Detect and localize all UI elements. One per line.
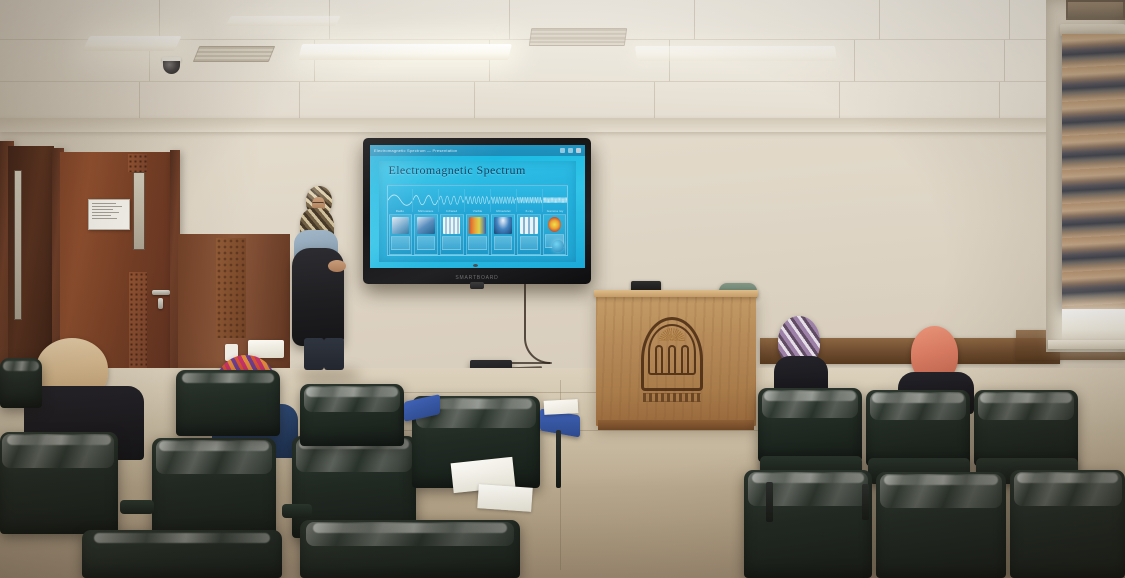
wave-microwave-icon — [413, 192, 438, 208]
wave-infrared-icon — [439, 192, 464, 208]
seat-leg-right-2 — [862, 484, 869, 520]
panel-caption-3 — [468, 236, 487, 250]
arabic-calligraphy-mark — [643, 393, 701, 402]
ceiling-light-centre — [298, 44, 512, 60]
maximize-icon[interactable] — [568, 148, 573, 153]
wall-picture-frame — [1066, 0, 1125, 20]
wave-uv-icon — [491, 192, 516, 208]
interactive-flat-panel[interactable]: Electromagnetic Spectrum — Presentation … — [363, 138, 591, 284]
seat-left-r1-a[interactable] — [0, 432, 118, 534]
panel-caption-5 — [520, 236, 539, 250]
arch-emblem-icon — [641, 317, 703, 391]
seat-armrest-right — [282, 504, 312, 518]
wave-cell-infrared: Infrared — [439, 189, 465, 212]
wave-cell-visible: Visible — [465, 189, 491, 212]
panel-caption-0 — [391, 236, 410, 250]
paper-on-tablet-2 — [477, 484, 533, 512]
display-wall-mount — [470, 282, 484, 289]
wave-strip: Radio Microwave Infrared — [388, 189, 568, 212]
seat-leg-right-1 — [766, 482, 773, 522]
seat-left-r1-b[interactable] — [152, 438, 276, 538]
wave-radio-icon — [388, 192, 413, 208]
slide-title: Electromagnetic Spectrum — [388, 163, 525, 178]
wave-gamma-icon — [543, 192, 568, 208]
lectern-base — [598, 420, 754, 430]
door-decorative-panel-bottom — [129, 272, 147, 380]
lectern-emblem — [641, 317, 703, 402]
display-brand-text: SMARTBOARD — [455, 275, 498, 281]
presenter-glasses — [312, 202, 324, 205]
panel-icon-xray — [520, 217, 537, 234]
panel-caption-4 — [494, 236, 513, 250]
spectrum-panel-xray — [517, 214, 541, 255]
spectrum-panel-visible — [466, 214, 490, 255]
spectrum-panel-infrared — [440, 214, 464, 255]
wave-label-2: Infrared — [439, 209, 464, 213]
seat-armrest-left — [120, 500, 154, 514]
wave-cell-microwave: Microwave — [413, 189, 439, 212]
wave-label-1: Microwave — [413, 209, 438, 213]
wave-cell-gamma: Gamma ray — [543, 189, 568, 212]
wave-visible-icon — [465, 192, 490, 208]
wave-label-3: Visible — [465, 209, 490, 213]
wave-cell-uv: Ultraviolet — [491, 189, 517, 212]
spectrum-panel-microwave — [414, 214, 438, 255]
wainscot-perforated-inset — [216, 238, 246, 338]
wave-label-6: Gamma ray — [543, 209, 568, 213]
wave-label-4: Ultraviolet — [491, 209, 516, 213]
presenter-leg-left — [304, 338, 324, 370]
spectrum-panel-radio — [389, 214, 413, 255]
tablet-support-arm — [556, 430, 561, 488]
panel-icon-visible — [469, 217, 486, 234]
seat-right-r2-a[interactable] — [744, 470, 872, 578]
lecture-room-photo: Electromagnetic Spectrum — Presentation … — [0, 0, 1125, 578]
door-vision-panel — [133, 172, 145, 250]
seat-right-r2-c[interactable] — [1010, 470, 1125, 578]
panel-icon-radio — [392, 217, 409, 234]
display-cable — [524, 284, 550, 364]
door-decorative-panel-top — [128, 154, 147, 172]
seat-front-row-right[interactable] — [300, 520, 520, 578]
panel-caption-2 — [442, 236, 461, 250]
display-screen[interactable]: Electromagnetic Spectrum — Presentation … — [370, 145, 585, 268]
door-lever-handle[interactable] — [152, 290, 170, 295]
wave-label-0: Radio — [388, 209, 413, 213]
door-lock-plate — [158, 298, 163, 309]
seat-right-r1-b[interactable] — [866, 390, 970, 466]
close-icon[interactable] — [576, 148, 581, 153]
seat-mid-r0-b[interactable] — [300, 384, 404, 446]
presenter-leg-right — [324, 338, 344, 370]
door-side-glass — [14, 170, 22, 320]
wave-cell-radio: Radio — [388, 189, 414, 212]
panel-icon-uv — [494, 217, 511, 234]
slide-app-bar: Electromagnetic Spectrum — Presentation — [370, 145, 585, 156]
panel-icon-microwave — [417, 217, 434, 234]
presenter-floor-shadow — [295, 368, 361, 382]
lectern-top-edge — [594, 290, 758, 297]
presenter-hands — [328, 260, 346, 272]
seat-left-r0-a[interactable] — [0, 358, 42, 408]
seat-right-r1-a[interactable] — [758, 388, 862, 462]
spectrum-diagram: Radio Microwave Infrared — [387, 185, 569, 256]
seat-mid-r0-a[interactable] — [176, 370, 280, 436]
air-diffuser-centre — [529, 28, 628, 46]
seat-right-r2-b[interactable] — [876, 472, 1006, 578]
panel-icon-gamma — [548, 217, 561, 233]
presentation-slide: Electromagnetic Spectrum Radio — [379, 161, 577, 262]
posted-notice-sheet — [88, 199, 130, 230]
panel-caption-1 — [417, 236, 436, 250]
window-light-gap — [1062, 309, 1125, 343]
seat-front-row-centre[interactable] — [82, 530, 282, 578]
ir-receiver — [473, 264, 478, 267]
minimize-icon[interactable] — [560, 148, 565, 153]
spectrum-panel-row — [388, 214, 568, 255]
seat-right-r1-c[interactable] — [974, 390, 1078, 466]
wave-xray-icon — [517, 192, 542, 208]
spectrum-panel-uv — [491, 214, 515, 255]
paper-on-desk-right — [544, 399, 579, 415]
wave-label-5: X-ray — [517, 209, 542, 213]
zebra-roller-blind[interactable] — [1062, 34, 1125, 311]
panel-icon-infrared — [443, 217, 460, 234]
window-sill — [1048, 340, 1125, 349]
app-title-text: Electromagnetic Spectrum — Presentation — [374, 148, 457, 153]
window-controls[interactable] — [560, 148, 581, 153]
wave-cell-xray: X-ray — [517, 189, 543, 212]
ceiling-light-right — [635, 46, 837, 61]
